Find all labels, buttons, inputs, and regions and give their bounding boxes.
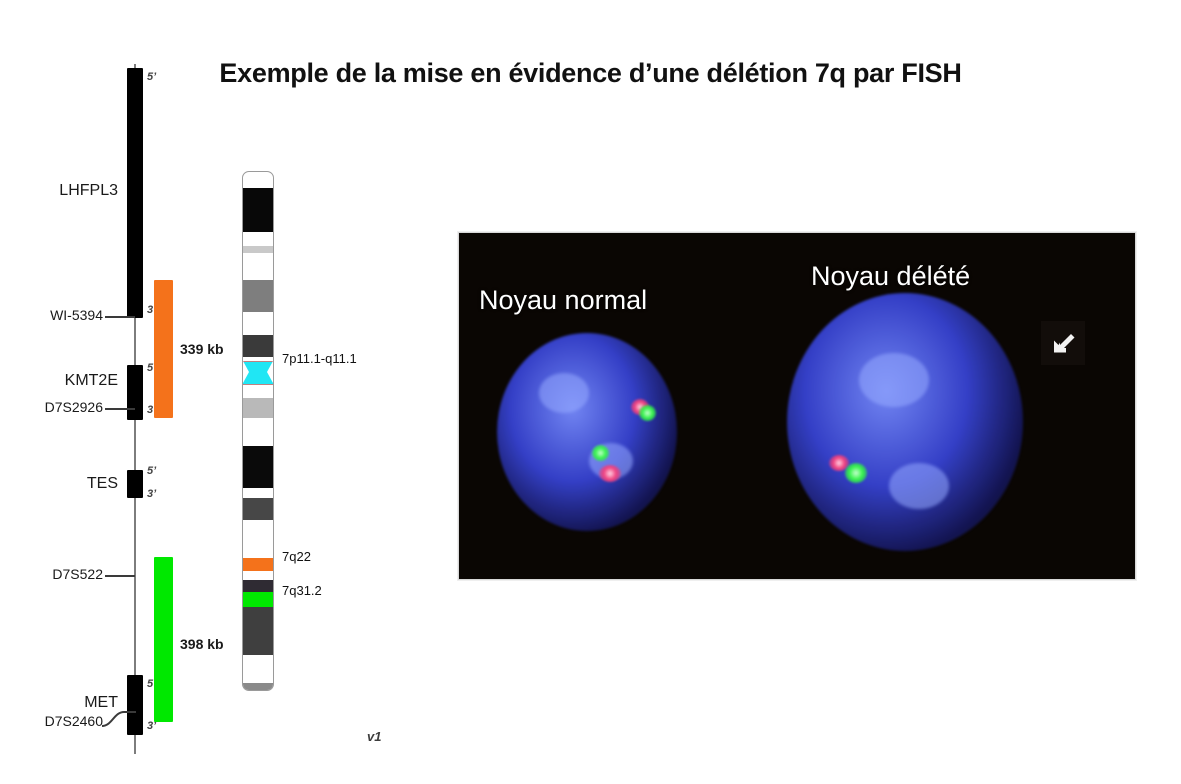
- ideogram-band: [243, 607, 273, 655]
- band-label-7q22: 7q22: [282, 549, 311, 564]
- probe-bar-orange: [154, 280, 173, 418]
- tick-wi-5394: [105, 316, 135, 318]
- label-noyau-normal: Noyau normal: [479, 285, 647, 316]
- ideogram-band: [243, 188, 273, 232]
- chromosome-7-ideogram: [242, 171, 274, 691]
- gene-label-kmt2e: KMT2E: [0, 372, 118, 390]
- arrow-down-left-icon: [1041, 321, 1085, 365]
- marker-label-d7s2926: D7S2926: [0, 399, 103, 415]
- connector-d7s2460: [102, 706, 136, 732]
- gene-box-tes: [127, 470, 143, 498]
- normal-nucleus: [497, 333, 677, 531]
- ideogram-band: [243, 398, 273, 418]
- met-three-prime-label: 3’: [147, 721, 156, 732]
- centromere-notch-right: [267, 361, 273, 383]
- band-label-7q31-2: 7q31.2: [282, 583, 322, 598]
- probe-size-339kb: 339 kb: [180, 341, 224, 357]
- probe-size-398kb: 398 kb: [180, 636, 224, 652]
- probe-bar-green: [154, 557, 173, 722]
- label-noyau-delete: Noyau délété: [811, 261, 970, 292]
- ideogram-band: [243, 683, 273, 691]
- gene-box-kmt2e: [127, 365, 143, 420]
- ideogram-band: [243, 498, 273, 520]
- nucleus-texture: [859, 353, 929, 407]
- ideogram-band-7q31-2: [243, 592, 273, 607]
- fish-signal-red: [599, 465, 621, 482]
- gene-map-panel: 5’ 3’ LHFPL3 WI-5394 5’ 3’ KMT2E D7S2926…: [0, 0, 240, 784]
- marker-label-d7s2460: D7S2460: [0, 713, 103, 729]
- marker-label-d7s522: D7S522: [0, 566, 103, 582]
- fish-micrograph: Noyau normal Noyau délété: [458, 232, 1136, 580]
- ideogram-band: [243, 446, 273, 488]
- centromere-notch-left: [243, 361, 249, 383]
- band-label-7p11-1-q11-1: 7p11.1-q11.1: [282, 351, 357, 366]
- ideogram-band: [243, 246, 273, 253]
- fish-signal-green: [592, 445, 609, 461]
- tes-three-prime-label: 3’: [147, 489, 156, 500]
- fish-signal-green: [845, 463, 867, 483]
- slide-canvas: Exemple de la mise en évidence d’une dél…: [0, 0, 1181, 784]
- gene-label-met: MET: [0, 694, 118, 712]
- version-tag: v1: [367, 729, 381, 744]
- ideogram-band-7q22: [243, 558, 273, 571]
- lhfpl3-five-prime-label: 5’: [147, 72, 156, 83]
- deleted-nucleus: [787, 293, 1023, 551]
- fish-signal-green: [639, 405, 656, 421]
- gene-label-tes: TES: [0, 475, 118, 493]
- ideogram-band: [243, 580, 273, 592]
- gene-box-lhfpl3: [127, 68, 143, 318]
- ideogram-band: [243, 280, 273, 312]
- ideogram-band: [243, 335, 273, 357]
- tes-five-prime-label: 5’: [147, 466, 156, 477]
- marker-label-wi-5394: WI-5394: [0, 307, 103, 323]
- nucleus-texture: [539, 373, 589, 413]
- gene-label-lhfpl3: LHFPL3: [0, 182, 118, 200]
- nucleus-texture: [889, 463, 949, 509]
- tick-d7s2926: [105, 408, 135, 410]
- tick-d7s522: [105, 575, 135, 577]
